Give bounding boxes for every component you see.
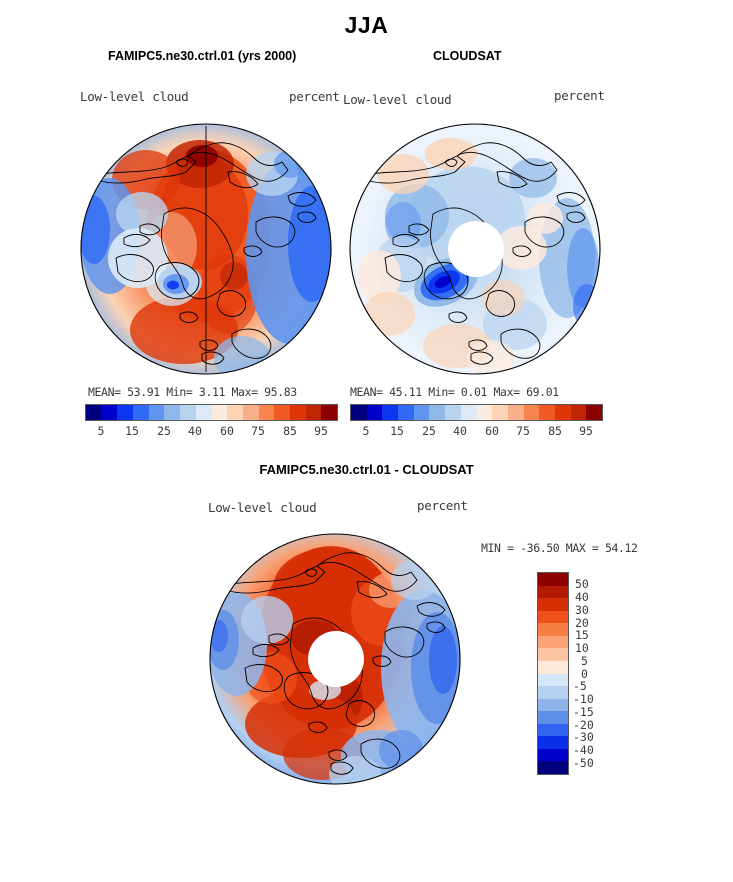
obs-variable-label: Low-level cloud [343,92,451,107]
cb-vtick: 40 [575,590,589,604]
map-model [76,118,336,380]
pole-data-gap [308,631,364,687]
colorbar-model [85,404,338,421]
panel-title-obs: CLOUDSAT [433,49,502,63]
cb-vtick: -15 [573,705,594,719]
model-stats: MEAN= 53.91 Min= 3.11 Max= 95.83 [88,385,297,399]
map-difference [205,528,465,790]
obs-stats: MEAN= 45.11 Min= 0.01 Max= 69.01 [350,385,559,399]
difference-variable-label: Low-level cloud [208,500,316,515]
colorbar-difference [537,572,569,775]
difference-stats: MIN = -36.50 MAX = 54.12 [481,541,638,555]
panel-title-model: FAMIPC5.ne30.ctrl.01 (yrs 2000) [108,49,296,63]
colorbar-difference-ticks: 50 40 30 20 15 10 5 0 -5 -10 -15 -20 -30… [573,572,621,775]
cb-vtick: 50 [575,577,589,591]
cb-vtick: -30 [573,730,594,744]
map-obs [345,118,605,380]
obs-units-label: percent [554,88,605,103]
model-units-label: percent [289,89,340,104]
cb-vtick: 30 [575,603,589,617]
cb-vtick: -10 [573,692,594,706]
cb-vtick: -5 [573,679,587,693]
difference-units-label: percent [417,498,468,513]
cb-vtick: -40 [573,743,594,757]
figure-season-title: JJA [0,12,733,39]
colorbar-obs [350,404,603,421]
cb-vtick: 5 [581,654,588,668]
colorbar-obs-ticks: 5 15 25 40 60 75 85 95 [350,424,603,438]
pole-data-gap [448,221,504,277]
cb-vtick: 10 [575,641,589,655]
cb-tick: 95 [563,424,609,438]
cb-vtick: 15 [575,628,589,642]
colorbar-model-ticks: 5 15 25 40 60 75 85 95 [85,424,338,438]
cb-tick: 95 [298,424,344,438]
cb-vtick: -50 [573,756,594,770]
panel-title-difference: FAMIPC5.ne30.ctrl.01 - CLOUDSAT [0,462,733,477]
model-variable-label: Low-level cloud [80,89,188,104]
